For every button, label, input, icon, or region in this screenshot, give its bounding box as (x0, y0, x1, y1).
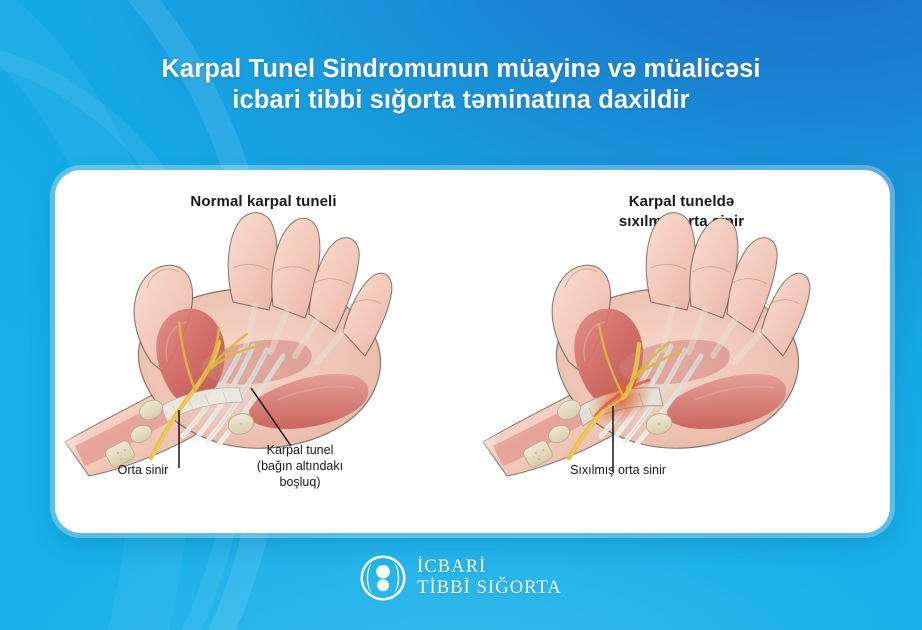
poster-canvas: Karpal Tunel Sindromunun müayinə və müal… (0, 0, 922, 630)
panel-normal-carpal-tunnel: Normal karpal tuneli (55, 170, 472, 533)
panel-compressed-median-nerve: Karpal tuneldə sıxılmış orta sinir (473, 170, 890, 533)
callout-carpal-tunnel: Karpal tunel (bağın altındakı boşluq) (215, 442, 385, 490)
figure-normal-carpal-tunnel-hand-anatomy (55, 210, 472, 480)
figure-compressed-median-nerve-hand-anatomy (473, 210, 890, 480)
panel-heading-normal: Normal karpal tuneli (55, 192, 472, 212)
callout-median-nerve: Orta sinir (83, 462, 203, 478)
illustration-card: Normal karpal tuneli (55, 170, 890, 533)
page-title: Karpal Tunel Sindromunun müayinə və müal… (0, 54, 922, 116)
footer-logo-text: İCBARİ TİBBİ SIĞORTA (417, 557, 562, 599)
callout-compressed-median-nerve: Sıxılmış orta sinir (503, 462, 733, 478)
footer-branding: İCBARİ TİBBİ SIĞORTA (0, 548, 922, 608)
icbari-tibbi-sigorta-emblem-icon (360, 555, 406, 601)
